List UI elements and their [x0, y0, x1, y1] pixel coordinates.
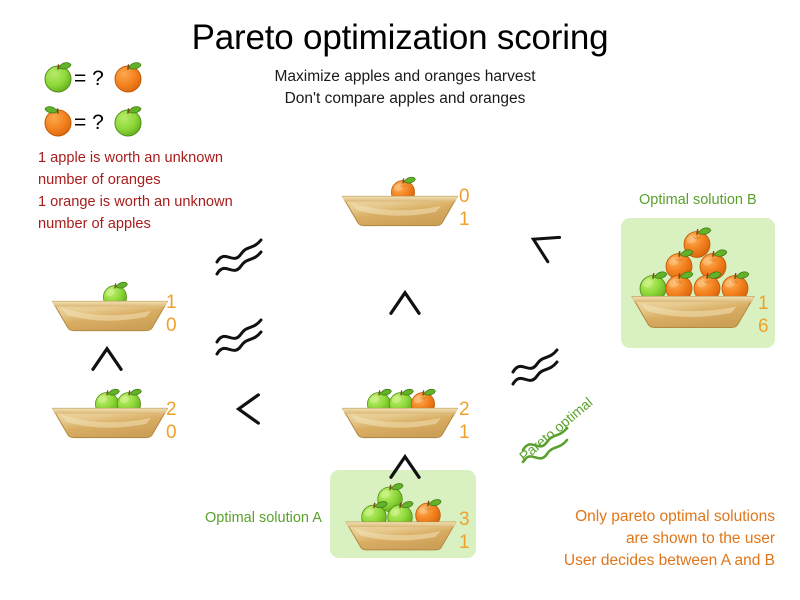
comparison-incomparable-3 — [508, 342, 570, 397]
orange-icon — [38, 100, 78, 145]
bowl-2-1 — [340, 382, 460, 447]
optimal-solution-b-label: Optimal solution B — [639, 192, 757, 208]
bowl-2-0-score: 2 0 — [166, 398, 177, 444]
apple-icon — [38, 56, 78, 101]
score-apples: 1 — [166, 291, 177, 314]
comparison-diagonal — [528, 232, 564, 273]
comparison-greater-2 — [386, 288, 424, 323]
comparison-greater-3 — [386, 452, 424, 487]
score-oranges: 1 — [459, 208, 470, 231]
bowl-1-6-score: 1 6 — [758, 292, 769, 338]
legend: = ? — [38, 58, 148, 146]
score-apples: 0 — [459, 185, 470, 208]
score-oranges: 0 — [166, 421, 177, 444]
bowl-1-0 — [50, 275, 170, 340]
score-oranges: 1 — [459, 421, 470, 444]
legend-equals-1: = ? — [74, 68, 104, 89]
explanation-line-2: number of oranges — [38, 169, 298, 191]
note-line-1: Only pareto optimal solutions — [470, 506, 775, 528]
score-oranges: 0 — [166, 314, 177, 337]
score-oranges: 1 — [459, 531, 470, 554]
bowl-0-1-score: 0 1 — [459, 185, 470, 231]
subtitle-line-2: Don't compare apples and oranges — [240, 88, 570, 110]
explanation-text: 1 apple is worth an unknown number of or… — [38, 147, 298, 235]
apple-icon — [108, 100, 148, 145]
explanation-line-3: 1 orange is worth an unknown — [38, 191, 298, 213]
bowl-2-1-score: 2 1 — [459, 398, 470, 444]
subtitle: Maximize apples and oranges harvest Don'… — [240, 66, 570, 110]
note-line-3: User decides between A and B — [470, 550, 775, 572]
comparison-incomparable-1 — [212, 232, 274, 287]
optimal-solution-a-label: Optimal solution A — [205, 510, 322, 526]
comparison-incomparable-2 — [212, 312, 274, 367]
pareto-diagram-canvas: Pareto optimization scoring Maximize app… — [0, 0, 800, 600]
score-apples: 3 — [459, 508, 470, 531]
comparison-greater-1 — [88, 344, 126, 379]
page-title: Pareto optimization scoring — [0, 18, 800, 58]
score-apples: 2 — [459, 398, 470, 421]
note-line-2: are shown to the user — [470, 528, 775, 550]
legend-row-apple-equals-orange: = ? — [38, 58, 148, 98]
legend-equals-2: = ? — [74, 112, 104, 133]
explanation-line-1: 1 apple is worth an unknown — [38, 147, 298, 169]
bowl-3-1-score: 3 1 — [459, 508, 470, 554]
bowl-1-6 — [626, 222, 766, 339]
orange-icon — [108, 56, 148, 101]
legend-row-orange-equals-apple: = ? — [38, 102, 148, 142]
comparison-less-than — [232, 390, 264, 433]
bowl-1-0-score: 1 0 — [166, 291, 177, 337]
subtitle-line-1: Maximize apples and oranges harvest — [240, 66, 570, 88]
bowl-2-0 — [50, 382, 170, 447]
score-oranges: 6 — [758, 315, 769, 338]
bowl-0-1 — [340, 170, 460, 235]
bottom-note: Only pareto optimal solutions are shown … — [470, 506, 775, 572]
score-apples: 1 — [758, 292, 769, 315]
score-apples: 2 — [166, 398, 177, 421]
